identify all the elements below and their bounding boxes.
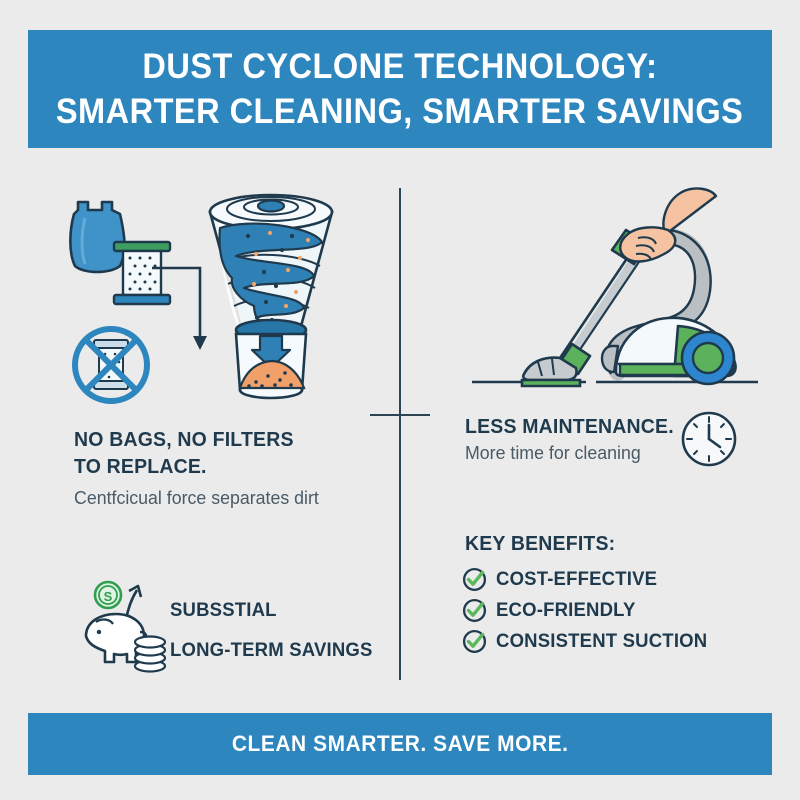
check-circle-icon <box>462 629 487 654</box>
check-circle-icon <box>462 567 487 592</box>
infographic-canvas: DUST CYCLONE TECHNOLOGY: SMARTER CLEANIN… <box>0 0 800 800</box>
list-item: CONSISTENT SUCTION <box>462 626 762 657</box>
header-title-line-2: SMARTER CLEANING, SMARTER SAVINGS <box>56 89 743 134</box>
header-title-line-1: DUST CYCLONE TECHNOLOGY: <box>142 44 657 89</box>
coin-stack-icon <box>135 637 165 672</box>
left-headline-line-2: TO REPLACE. <box>74 453 294 480</box>
footer-tagline: CLEAN SMARTER. SAVE MORE. <box>232 731 569 757</box>
left-headline: NO BAGS, NO FILTERS TO REPLACE. <box>74 426 294 480</box>
check-circle-icon <box>462 598 487 623</box>
left-headline-line-1: NO BAGS, NO FILTERS <box>74 426 294 453</box>
savings-headline-line-2: LONG-TERM SAVINGS <box>170 637 373 664</box>
benefit-label: COST-EFFECTIVE <box>496 568 657 591</box>
list-item: COST-EFFECTIVE <box>462 564 762 595</box>
left-subtitle: Centfcicual force separates dirt <box>74 486 319 510</box>
maintenance-headline: LESS MAINTENANCE. <box>465 413 674 440</box>
savings-headline-line-1: SUBSSTIAL <box>170 597 277 624</box>
key-benefits-title: KEY BENEFITS: <box>465 532 615 556</box>
header-banner: DUST CYCLONE TECHNOLOGY: SMARTER CLEANIN… <box>28 30 772 148</box>
piggy-bank-icon: S <box>74 578 170 674</box>
maintenance-subtitle: More time for cleaning <box>465 441 641 465</box>
benefit-label: CONSISTENT SUCTION <box>496 630 707 653</box>
svg-text:S: S <box>104 589 113 604</box>
divider-cross-tick <box>370 414 430 416</box>
column-divider <box>399 188 401 680</box>
benefit-label: ECO-FRIENDLY <box>496 599 636 622</box>
footer-banner: CLEAN SMARTER. SAVE MORE. <box>28 713 772 775</box>
cyclone-bin-illustration <box>196 184 346 400</box>
benefits-list: COST-EFFECTIVE ECO-FRIENDLY CONSISTENT S… <box>462 564 762 657</box>
no-filter-prohibited-icon <box>68 322 154 408</box>
list-item: ECO-FRIENDLY <box>462 595 762 626</box>
canister-vacuum-illustration <box>468 186 764 392</box>
clock-icon <box>679 409 739 469</box>
